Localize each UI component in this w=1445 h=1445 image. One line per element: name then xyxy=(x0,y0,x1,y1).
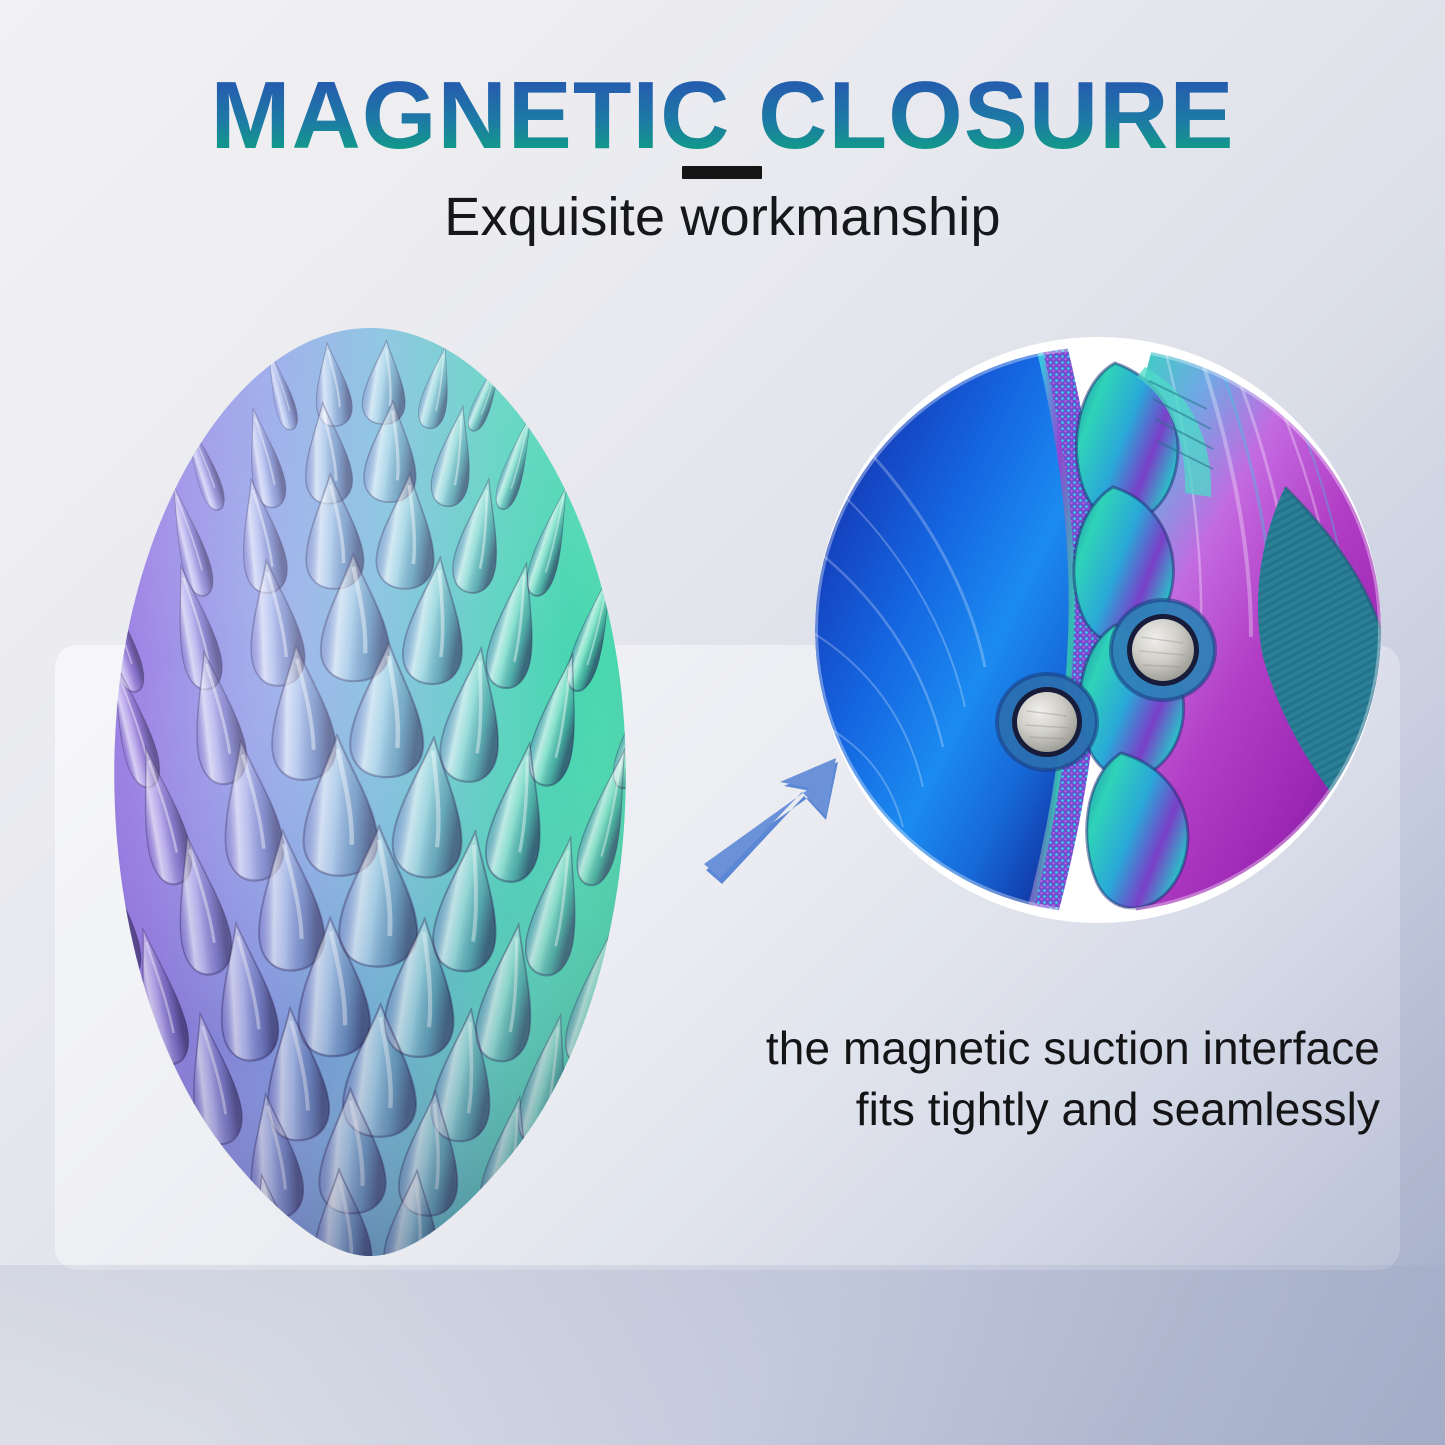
caption-line-1: the magnetic suction interface xyxy=(640,1018,1380,1079)
floor-shadow-band xyxy=(0,1265,1445,1445)
page-title: MAGNETIC CLOSURE xyxy=(0,66,1445,167)
title-divider xyxy=(682,166,762,179)
feature-caption: the magnetic suction interface fits tigh… xyxy=(640,1018,1380,1139)
product-graphic-canvas: MAGNETIC CLOSURE Exquisite workmanship xyxy=(0,0,1445,1445)
magnetic-closure-detail-inset xyxy=(815,337,1381,923)
magnet-upper xyxy=(1111,600,1215,700)
magnet-lower xyxy=(997,674,1097,770)
page-subtitle: Exquisite workmanship xyxy=(0,186,1445,248)
caption-line-2: fits tightly and seamlessly xyxy=(640,1079,1380,1140)
arrow-up-right-icon xyxy=(698,752,848,887)
dragon-egg-image xyxy=(40,320,700,1280)
